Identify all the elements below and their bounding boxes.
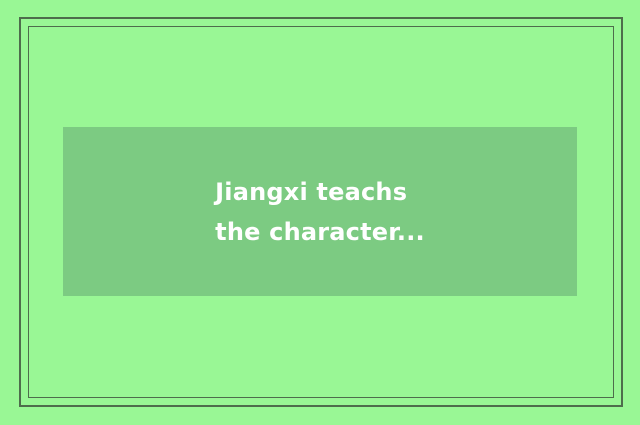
content-panel: Jiangxi teachs the character... [63, 127, 577, 296]
panel-title: Jiangxi teachs the character... [215, 172, 425, 252]
page-canvas: Jiangxi teachs the character... [0, 0, 640, 425]
